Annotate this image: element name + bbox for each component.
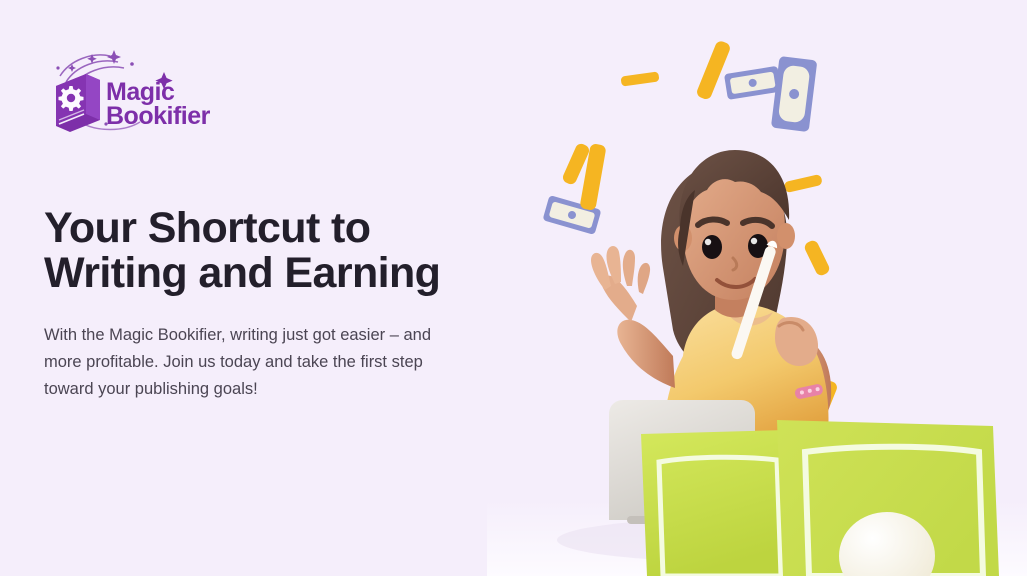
brand-logo[interactable]: Magic Bookifier xyxy=(40,48,240,134)
logo-word-bottom: Bookifier xyxy=(106,102,211,130)
hand-left-open xyxy=(591,246,650,322)
banknote-icon xyxy=(724,66,781,100)
book-cover-front xyxy=(777,420,999,576)
hero-illustration-graphic xyxy=(487,0,1027,576)
hero-banner: Magic Bookifier Your Shortcut to Writing… xyxy=(0,0,1027,576)
eye-glint-left xyxy=(705,239,711,245)
banknote-icon xyxy=(771,56,817,132)
confetti-strip xyxy=(695,40,731,101)
hero-subcopy: With the Magic Bookifier, writing just g… xyxy=(44,322,474,402)
ear-right xyxy=(777,223,795,249)
eye-left xyxy=(702,235,722,259)
hero-illustration xyxy=(487,0,1027,576)
confetti-strip xyxy=(620,71,659,86)
confetti-strip xyxy=(783,174,823,193)
brand-logo-graphic: Magic Bookifier xyxy=(40,48,240,134)
gear-icon xyxy=(59,86,84,111)
hero-copy: Your Shortcut to Writing and Earning Wit… xyxy=(44,206,474,402)
eye-glint-right xyxy=(751,238,757,244)
brand-wordmark: Magic Bookifier xyxy=(106,72,211,130)
arm-left xyxy=(617,320,675,388)
book-cover-back xyxy=(641,430,793,576)
confetti-strip xyxy=(803,239,831,277)
book-icon xyxy=(56,74,100,132)
page-title: Your Shortcut to Writing and Earning xyxy=(44,206,474,296)
